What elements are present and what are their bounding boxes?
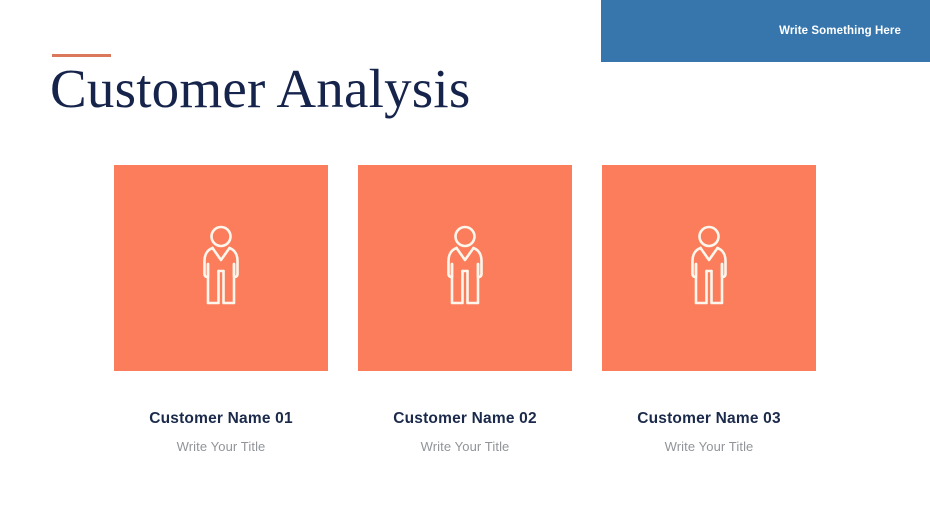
- person-icon: [196, 224, 246, 312]
- person-icon: [440, 224, 490, 312]
- person-icon: [684, 224, 734, 312]
- top-right-banner: Write Something Here: [601, 0, 930, 62]
- customer-card-1-subtitle: Write Your Title: [177, 439, 266, 454]
- title-accent-rule: [52, 54, 111, 57]
- slide-canvas: Write Something Here Customer Analysis C…: [0, 0, 930, 524]
- page-title: Customer Analysis: [50, 58, 471, 120]
- customer-cards-row: Customer Name 01 Write Your Title Custom…: [114, 165, 816, 454]
- customer-card-2-tile: [358, 165, 572, 371]
- customer-card-3-tile: [602, 165, 816, 371]
- customer-card-2[interactable]: Customer Name 02 Write Your Title: [358, 165, 572, 454]
- customer-card-2-name: Customer Name 02: [393, 410, 537, 428]
- customer-card-1[interactable]: Customer Name 01 Write Your Title: [114, 165, 328, 454]
- customer-card-3-subtitle: Write Your Title: [665, 439, 754, 454]
- customer-card-1-tile: [114, 165, 328, 371]
- banner-text: Write Something Here: [779, 25, 901, 37]
- customer-card-2-subtitle: Write Your Title: [421, 439, 510, 454]
- customer-card-3-name: Customer Name 03: [637, 410, 781, 428]
- customer-card-3[interactable]: Customer Name 03 Write Your Title: [602, 165, 816, 454]
- customer-card-1-name: Customer Name 01: [149, 410, 293, 428]
